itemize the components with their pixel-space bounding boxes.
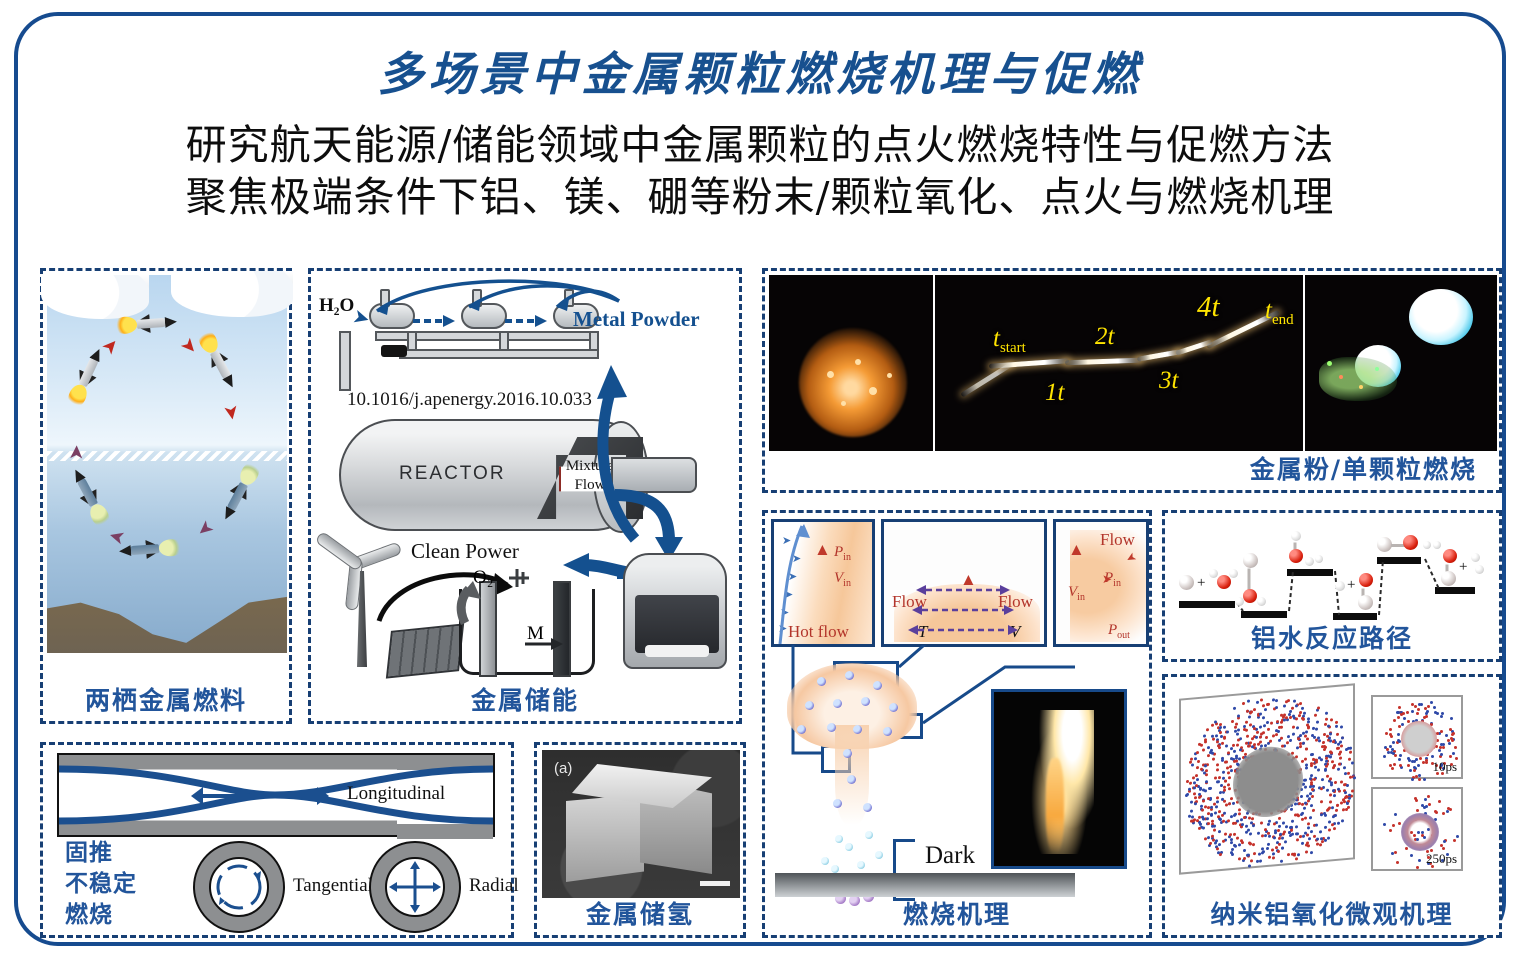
md-atom — [1270, 721, 1273, 724]
rocket-air-top — [127, 315, 174, 331]
md-atom — [1417, 708, 1420, 711]
md-atom — [1332, 766, 1335, 769]
md-atom — [1309, 816, 1312, 819]
sem-image: (a) — [542, 750, 740, 898]
atom-aluminum — [1243, 553, 1258, 568]
md-atom — [1304, 757, 1307, 760]
md-atom — [1431, 755, 1434, 758]
atom-hydrogen — [1257, 597, 1266, 606]
md-box-250ps: 250ps — [1371, 787, 1463, 871]
rocket-sub-bottom — [123, 541, 170, 557]
md-atom — [1325, 711, 1328, 714]
md-atom — [1452, 752, 1455, 755]
panel-combustion-instability: Longitudinal Tangential Radial 固推 不稳定 燃烧 — [40, 742, 514, 938]
md-atom — [1290, 808, 1293, 811]
md-atom — [1394, 813, 1397, 816]
md-atom — [1248, 816, 1251, 819]
md-atom — [1287, 735, 1290, 738]
md-atom — [1201, 808, 1204, 811]
md-atom — [1251, 737, 1254, 740]
md-atom — [1338, 790, 1341, 793]
md-atom — [1236, 732, 1239, 735]
md-atom — [1389, 829, 1392, 832]
anode — [479, 581, 497, 677]
md-atom — [1330, 751, 1333, 754]
md-atom — [1328, 829, 1331, 832]
md-atom — [1202, 800, 1205, 803]
page-title: 多场景中金属颗粒燃烧机理与促燃 — [18, 38, 1502, 104]
md-atom — [1325, 764, 1328, 767]
md-atom — [1310, 851, 1313, 854]
md-atom — [1340, 801, 1343, 804]
md-atom — [1218, 843, 1221, 846]
gas-molecule — [831, 865, 839, 873]
longitudinal-arrow — [189, 785, 339, 807]
md-atom — [1441, 712, 1444, 715]
md-atom — [1335, 725, 1338, 728]
md-atom — [1304, 785, 1307, 788]
md-atom — [1224, 780, 1227, 783]
md-atom — [1351, 789, 1354, 792]
md-atom — [1295, 825, 1298, 828]
panel-metal-energy-storage: H₂O ➤ Metal Powder 10.1016/j.apener — [308, 268, 742, 724]
valve-block — [381, 345, 407, 357]
md-atom — [1344, 791, 1347, 794]
cycle-arrow-4: ➤ — [193, 516, 217, 541]
md-atom — [1299, 702, 1302, 705]
md-atom — [1280, 726, 1283, 729]
ember-speck — [869, 387, 877, 395]
md-atom — [1229, 833, 1232, 836]
md-atom — [1417, 764, 1420, 767]
glow-particle-large — [1409, 289, 1473, 345]
md-atom — [1275, 706, 1278, 709]
md-atom — [1233, 749, 1236, 752]
md-atom — [1335, 720, 1338, 723]
ember-speck — [855, 359, 861, 365]
gas-molecule — [865, 831, 873, 839]
md-atom — [1241, 823, 1244, 826]
md-atom — [1349, 751, 1352, 754]
md-atom — [1331, 760, 1334, 763]
md-atom — [1450, 717, 1453, 720]
md-atom — [1292, 732, 1295, 735]
md-atom — [1337, 787, 1340, 790]
md-atom — [1411, 778, 1414, 781]
md-atom — [1268, 856, 1271, 859]
md-atom — [1416, 866, 1419, 869]
md-atom — [1337, 822, 1340, 825]
turbine-blade-3 — [315, 531, 365, 572]
md-atom — [1293, 699, 1296, 702]
md-atom — [1435, 811, 1438, 814]
md-atom — [1346, 784, 1349, 787]
md-atom — [1281, 836, 1284, 839]
md-atom — [1440, 753, 1443, 756]
md-atom — [1296, 746, 1299, 749]
md-atom — [1296, 726, 1299, 729]
md-atom — [1206, 728, 1209, 731]
md-atom — [1278, 817, 1281, 820]
md-atom — [1228, 776, 1231, 779]
md-atom — [1347, 806, 1350, 809]
md-atom — [1301, 818, 1304, 821]
md-atom — [1282, 821, 1285, 824]
md-atom — [1207, 746, 1210, 749]
md-atom — [1267, 727, 1270, 730]
md-atom — [1196, 819, 1199, 822]
md-atom — [1398, 725, 1401, 728]
tangential-arrows — [209, 857, 269, 917]
gas-molecule — [845, 843, 853, 851]
caption-particle-combustion: 金属粉/单颗粒燃烧 — [765, 450, 1499, 486]
md-atom — [1398, 758, 1401, 761]
time-label-4t: 4t — [1197, 291, 1220, 324]
md-atom — [1442, 847, 1445, 850]
md-atom — [1339, 741, 1342, 744]
md-atom — [1186, 793, 1189, 796]
md-atom — [1284, 840, 1287, 843]
md-atom — [1389, 733, 1392, 736]
md-atom — [1219, 852, 1222, 855]
label-radial: Radial — [469, 875, 519, 897]
md-atom — [1425, 715, 1428, 718]
solar-panel — [386, 623, 464, 678]
md-atom — [1238, 857, 1241, 860]
md-atom — [1436, 732, 1439, 735]
md-atom — [1207, 822, 1210, 825]
atom-aluminum — [1441, 571, 1456, 586]
md-atom — [1324, 745, 1327, 748]
md-atom — [1195, 784, 1198, 787]
md-atom — [1405, 847, 1408, 850]
md-atom — [1259, 860, 1262, 863]
md-atom — [1232, 744, 1235, 747]
md-atom — [1283, 705, 1286, 708]
md-atom — [1304, 831, 1307, 834]
md-atom — [1305, 731, 1308, 734]
md-atom — [1310, 804, 1313, 807]
glow-speck — [1359, 385, 1363, 389]
label-tangential: Tangential — [293, 875, 373, 897]
atom-oxygen — [1359, 573, 1373, 587]
md-atom — [1339, 750, 1342, 753]
streak-segment — [1137, 349, 1181, 362]
md-atom — [1325, 756, 1328, 759]
md-atom — [1300, 794, 1303, 797]
atom-oxygen — [1289, 549, 1303, 563]
md-atom — [1218, 810, 1221, 813]
md-atom — [1214, 720, 1217, 723]
md-atom — [1299, 835, 1302, 838]
md-atom — [1295, 704, 1298, 707]
md-atom — [1413, 769, 1416, 772]
instability-caption-line-1: 固推 — [65, 837, 137, 868]
md-atom — [1332, 815, 1335, 818]
md-atom — [1231, 853, 1234, 856]
glow-speck — [1375, 367, 1379, 371]
md-atom — [1262, 850, 1265, 853]
md-atom — [1238, 843, 1241, 846]
md-atom — [1206, 817, 1209, 820]
md-atom — [1192, 776, 1195, 779]
md-atom — [1416, 712, 1419, 715]
panel-nano-oxidation: 10ps 250ps 纳米铝氧化微观机理 — [1162, 674, 1502, 938]
md-atom — [1318, 739, 1321, 742]
md-atom — [1418, 778, 1421, 781]
md-atom — [1304, 816, 1307, 819]
md-atom — [1248, 715, 1251, 718]
md-atom — [1411, 710, 1414, 713]
md-atom — [1308, 837, 1311, 840]
md-atom — [1233, 706, 1236, 709]
md-atom — [1196, 778, 1199, 781]
md-atom — [1301, 811, 1304, 814]
streak-segment — [989, 358, 1069, 369]
md-atom — [1211, 834, 1214, 837]
md-atom — [1237, 714, 1240, 717]
md-atom — [1406, 711, 1409, 714]
md-atom — [1315, 760, 1318, 763]
md-atom — [1329, 777, 1332, 780]
md-atom — [1324, 722, 1327, 725]
md-atom — [1343, 766, 1346, 769]
md-atom — [1315, 823, 1318, 826]
md-atom — [1305, 747, 1308, 750]
md-atom — [1392, 741, 1395, 744]
md-atom — [1278, 739, 1281, 742]
md-atom — [1250, 859, 1253, 862]
md-atom — [1428, 803, 1431, 806]
gas-molecule — [857, 861, 865, 869]
atom-hydrogen — [1315, 555, 1323, 563]
md-atom — [1223, 725, 1226, 728]
md-atom — [1391, 852, 1394, 855]
md-atom — [1336, 733, 1339, 736]
storage-tank — [623, 553, 727, 669]
md-atom — [1449, 755, 1452, 758]
md-atom — [1204, 740, 1207, 743]
md-atom — [1230, 838, 1233, 841]
md-atom — [1287, 699, 1290, 702]
gas-molecule — [821, 857, 829, 865]
md-atom — [1243, 724, 1246, 727]
md-atom — [1246, 853, 1249, 856]
md-atom — [1411, 703, 1414, 706]
md-atom — [1194, 796, 1197, 799]
md-atom — [1224, 832, 1227, 835]
md-atom — [1238, 808, 1241, 811]
md-atom — [1266, 720, 1269, 723]
md-atom — [1442, 746, 1445, 749]
md-atom — [1204, 805, 1207, 808]
md-atom — [1451, 733, 1454, 736]
md-atom — [1402, 712, 1405, 715]
md-atom — [1314, 714, 1317, 717]
md-atom — [1266, 846, 1269, 849]
md-atom — [1407, 764, 1410, 767]
md-atom — [1335, 808, 1338, 811]
md-atom — [1227, 771, 1230, 774]
md-atom — [1311, 788, 1314, 791]
md-atom — [1312, 785, 1315, 788]
md-atom — [1327, 837, 1330, 840]
md-atom — [1191, 763, 1194, 766]
md-atom — [1344, 772, 1347, 775]
flow-arrow-b — [503, 315, 549, 327]
gas-molecule — [835, 835, 843, 843]
md-atom — [1291, 819, 1294, 822]
md-atom — [1291, 707, 1294, 710]
flow-arrow-a — [411, 315, 457, 327]
md-atom — [1348, 757, 1351, 760]
md-atom — [1340, 745, 1343, 748]
md-atom — [1216, 796, 1219, 799]
md-atom — [1320, 758, 1323, 761]
instability-caption-line-2: 不稳定 — [65, 868, 137, 899]
panel-hydrogen-storage: (a) 金属储氢 — [534, 742, 746, 938]
md-atom — [1341, 736, 1344, 739]
md-atom — [1189, 760, 1192, 763]
md-atom — [1216, 740, 1219, 743]
riser-1 — [407, 331, 417, 351]
md-atom — [1327, 808, 1330, 811]
md-atom — [1295, 857, 1298, 860]
rocket-sub-left — [71, 470, 104, 517]
md-atom — [1333, 794, 1336, 797]
md-atom — [1393, 719, 1396, 722]
md-atom — [1209, 751, 1212, 754]
md-atom — [1438, 800, 1441, 803]
md-atom — [1238, 812, 1241, 815]
md-atom — [1415, 758, 1418, 761]
md-atom — [1305, 763, 1308, 766]
md-atom — [1260, 822, 1263, 825]
md-atom — [1237, 738, 1240, 741]
md-atom — [1186, 780, 1189, 783]
cell-terminal — [507, 567, 533, 589]
md-atom — [1196, 751, 1199, 754]
md-atom — [1324, 813, 1327, 816]
atom-hydrogen — [1291, 531, 1301, 541]
subtitle-line-1: 研究航天能源/储能领域中金属颗粒的点火燃烧特性与促燃方法 — [18, 119, 1502, 171]
md-atom — [1440, 743, 1443, 746]
md-atom — [1190, 809, 1193, 812]
md-atom — [1346, 801, 1349, 804]
ember-speck — [841, 401, 846, 406]
md-atom — [1329, 800, 1332, 803]
md-atom — [1236, 744, 1239, 747]
md-atom — [1242, 702, 1245, 705]
md-atom — [1302, 718, 1305, 721]
md-atom — [1212, 737, 1215, 740]
md-atom — [1267, 843, 1270, 846]
time-label-start: tstart — [993, 325, 1026, 357]
md-atom — [1451, 739, 1454, 742]
md-atom — [1316, 721, 1319, 724]
md-atom — [1297, 814, 1300, 817]
riser-2 — [499, 331, 509, 351]
md-atom — [1250, 710, 1253, 713]
page-subtitle: 研究航天能源/储能领域中金属颗粒的点火燃烧特性与促燃方法 聚焦极端条件下铝、镁、… — [18, 119, 1502, 223]
md-atom — [1353, 776, 1356, 779]
md-atom — [1243, 849, 1246, 852]
md-atom — [1320, 787, 1323, 790]
md-atom — [1236, 836, 1239, 839]
md-atom — [1216, 764, 1219, 767]
md-atom — [1398, 822, 1401, 825]
md-atom — [1440, 730, 1443, 733]
md-atom — [1299, 745, 1302, 748]
md-atom — [1308, 797, 1311, 800]
md-atom — [1263, 724, 1266, 727]
md-atom — [1298, 714, 1301, 717]
md-atom — [1398, 706, 1401, 709]
cathode — [553, 581, 571, 677]
md-atom — [1232, 822, 1235, 825]
md-atom — [1207, 812, 1210, 815]
md-atom — [1272, 856, 1275, 859]
md-atom — [1427, 795, 1430, 798]
md-atom — [1341, 819, 1344, 822]
md-atom — [1307, 822, 1310, 825]
md-atom — [1311, 795, 1314, 798]
rocket-sub-right — [221, 472, 254, 519]
ember-speck — [827, 371, 834, 378]
md-atom — [1276, 720, 1279, 723]
md-atom — [1317, 706, 1320, 709]
cycle-arrow-6: ➤ — [67, 444, 87, 461]
rocket-air-right — [203, 340, 236, 387]
md-atom — [1211, 734, 1214, 737]
md-atom — [1333, 827, 1336, 830]
cloud-left — [41, 275, 149, 319]
md-atom — [1243, 816, 1246, 819]
rocket-air-left — [72, 350, 103, 397]
time-label-2t: 2t — [1095, 323, 1114, 351]
md-atom — [1325, 718, 1328, 721]
md-atom — [1211, 724, 1214, 727]
md-atom — [1317, 768, 1320, 771]
md-atom — [1202, 826, 1205, 829]
md-atom — [1273, 822, 1276, 825]
md-atom — [1210, 812, 1213, 815]
md-atom — [1424, 798, 1427, 801]
md-atom — [1340, 725, 1343, 728]
md-atom — [1453, 839, 1456, 842]
radial-arrows — [385, 857, 445, 917]
md-atom — [1189, 782, 1192, 785]
md-atom — [1226, 730, 1229, 733]
ember-glow — [799, 328, 907, 437]
md-atom — [1286, 742, 1289, 745]
md-atom — [1348, 797, 1351, 800]
md-atom — [1320, 813, 1323, 816]
label-250ps: 250ps — [1426, 851, 1457, 867]
time-label-3t: 3t — [1159, 367, 1178, 395]
md-atom — [1312, 809, 1315, 812]
md-atom — [1257, 831, 1260, 834]
md-atom — [1258, 853, 1261, 856]
md-atom — [1391, 767, 1394, 770]
tank-contents — [645, 645, 709, 657]
label-10ps: 10ps — [1432, 759, 1457, 775]
md-atom — [1207, 754, 1210, 757]
md-atom — [1302, 741, 1305, 744]
time-label-end: tend — [1265, 297, 1294, 329]
md-atom — [1440, 715, 1443, 718]
photo-glowing-particles — [1305, 275, 1497, 451]
